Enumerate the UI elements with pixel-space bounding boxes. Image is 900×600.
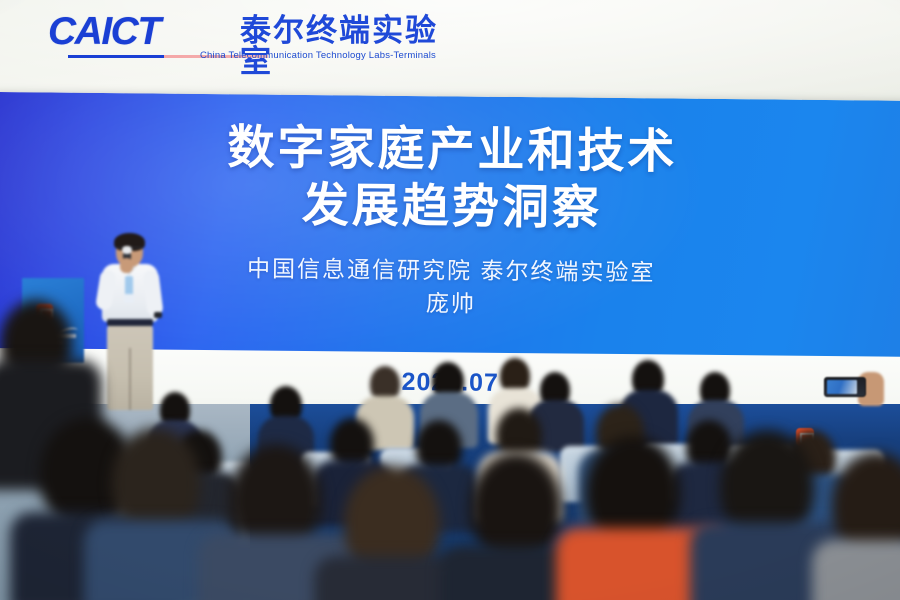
conference-photo: CAICT 泰尔终端实验室 China Telecommunication Te…: [0, 0, 900, 600]
slide-title-line2: 发展趋势洞察: [0, 173, 900, 239]
logo-chinese-name: 泰尔终端实验室: [240, 15, 468, 77]
speaker: [96, 236, 166, 412]
slide-title-line1: 数字家庭产业和技术: [0, 116, 900, 182]
logo-acronym: CAICT: [48, 12, 160, 51]
audience-body: [812, 540, 900, 600]
audience-head: [112, 428, 200, 534]
speaker-microphone-head: [122, 246, 132, 254]
speaker-belt: [107, 319, 153, 326]
speaker-wristwatch: [154, 312, 162, 318]
smartphone-recording: [824, 377, 866, 397]
logo-english-name: China Telecommunication Technology Labs-…: [200, 50, 436, 61]
speaker-lanyard: [125, 276, 133, 296]
caict-logo: CAICT 泰尔终端实验室 China Telecommunication Te…: [48, 12, 468, 64]
speaker-hand: [120, 258, 133, 273]
slide-title: 数字家庭产业和技术 发展趋势洞察: [0, 116, 900, 239]
audience-head: [470, 452, 562, 560]
speaker-leg-separation: [129, 348, 131, 410]
speaker-badge: [124, 294, 134, 303]
smartphone-screen: [827, 380, 857, 394]
